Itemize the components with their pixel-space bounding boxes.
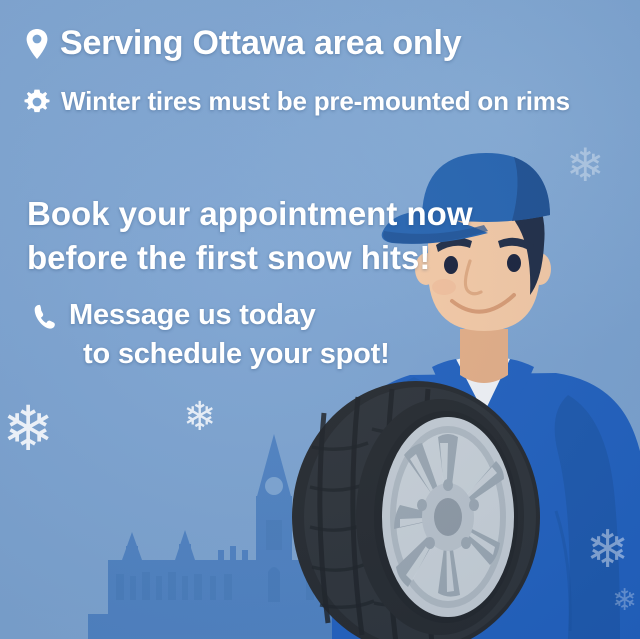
- snowflake-icon: ❄: [566, 142, 605, 188]
- snowflake-icon: ❄: [2, 398, 54, 460]
- headline-line-2: before the first snow hits!: [27, 236, 472, 280]
- message-cta-line: Message us today to schedule your spot!: [30, 296, 390, 373]
- snowflake-icon: ❄: [586, 524, 630, 576]
- winter-tire-promo-poster: ❄ ❄ ❄ ❄ ❄ Serving Ottawa area only Winte…: [0, 0, 640, 639]
- headline-line-1: Book your appointment now: [27, 192, 472, 236]
- phone-icon: [30, 298, 60, 336]
- gear-icon: [24, 87, 50, 117]
- location-pin-icon: [22, 25, 52, 63]
- message-line-2: to schedule your spot!: [69, 335, 390, 374]
- serving-area-text: Serving Ottawa area only: [60, 24, 461, 63]
- message-cta-text-group: Message us today to schedule your spot!: [69, 296, 390, 373]
- pre-mounted-rims-line: Winter tires must be pre-mounted on rims: [24, 86, 570, 117]
- snowflake-icon: ❄: [612, 586, 637, 616]
- serving-area-line: Serving Ottawa area only: [22, 24, 461, 63]
- message-line-1: Message us today: [69, 296, 316, 335]
- pre-mounted-rims-text: Winter tires must be pre-mounted on rims: [61, 86, 570, 117]
- headline-block: Book your appointment now before the fir…: [27, 192, 472, 279]
- snowflake-icon: ❄: [183, 397, 217, 437]
